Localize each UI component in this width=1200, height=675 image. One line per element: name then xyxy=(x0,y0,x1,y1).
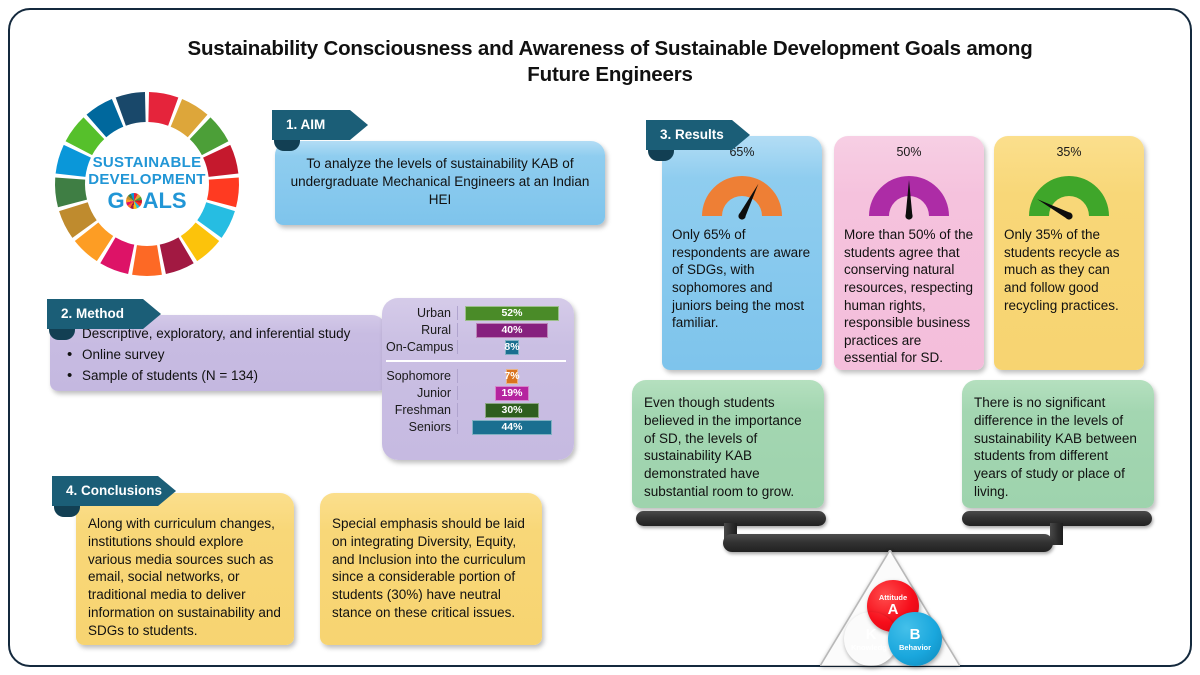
chart-bar-fill: 19% xyxy=(495,386,529,401)
chart-bar-fill: 7% xyxy=(506,369,519,384)
result-text: More than 50% of the students agree that… xyxy=(844,226,974,366)
chart-bar-row: Junior19% xyxy=(386,385,566,401)
chart-bar-fill: 40% xyxy=(476,323,548,338)
results-banner: 3. Results xyxy=(646,120,750,150)
chart-bar-label: Junior xyxy=(386,386,458,400)
method-bullet: Online survey xyxy=(60,346,372,364)
gauge-attitude: 50% xyxy=(844,144,974,224)
result-card-recycling: 35% Only 35% of the students recycle as … xyxy=(994,136,1144,370)
gauge-dial-icon xyxy=(1013,162,1125,220)
balance-right-card: There is no significant difference in th… xyxy=(962,380,1154,508)
demographics-funnel-chart: Urban52%Rural40%On-Campus8% Sophomore7%J… xyxy=(382,298,574,460)
sdg-tile-5 xyxy=(207,178,239,208)
balance-right-text: There is no significant difference in th… xyxy=(974,395,1137,499)
aim-text: To analyze the levels of sustainability … xyxy=(291,156,590,207)
balance-left-card: Even though students believed in the imp… xyxy=(632,380,824,508)
gauge-hub xyxy=(738,212,745,219)
kab-letter: B xyxy=(910,627,921,644)
page-title: Sustainability Consciousness and Awarene… xyxy=(170,36,1050,88)
gauge-hub xyxy=(1065,212,1072,219)
chart-bar-track: 30% xyxy=(458,403,566,418)
chart-group-divider xyxy=(386,360,566,362)
chart-bar-fill: 30% xyxy=(485,403,539,418)
conclusion-text: Special emphasis should be laid on integ… xyxy=(332,516,526,620)
conclusion-card-2: Special emphasis should be laid on integ… xyxy=(320,493,542,645)
conclusion-card-1: Along with curriculum changes, instituti… xyxy=(76,493,294,645)
chart-bar-label: Urban xyxy=(386,306,458,320)
kab-name: Behavior xyxy=(899,644,931,652)
result-card-attitude: 50% More than 50% of the students agree … xyxy=(834,136,984,370)
gauge-value-label: 35% xyxy=(1004,144,1134,161)
chart-group-year-of-study: Sophomore7%Junior19%Freshman30%Seniors44… xyxy=(386,368,566,435)
chart-bar-row: Urban52% xyxy=(386,305,566,321)
chart-bar-row: Seniors44% xyxy=(386,419,566,435)
sdg-tile-9 xyxy=(132,245,162,276)
gauge-value-label: 50% xyxy=(844,144,974,161)
sdg-wheel-logo: SUSTAINABLE DEVELOPMENT GALS xyxy=(52,90,242,278)
chart-bar-label: Rural xyxy=(386,323,458,337)
chart-group-place-of-living: Urban52%Rural40%On-Campus8% xyxy=(386,305,566,355)
gauge-awareness: 65% xyxy=(672,144,812,224)
chart-bar-row: Sophomore7% xyxy=(386,368,566,384)
kab-circle-behavior: B Behavior xyxy=(888,612,942,666)
gauge-dial-icon xyxy=(853,162,965,220)
chart-bar-label: On-Campus xyxy=(386,340,458,354)
aim-banner: 1. AIM xyxy=(272,110,368,140)
conclusions-banner: 4. Conclusions xyxy=(52,476,176,506)
chart-bar-fill: 44% xyxy=(472,420,551,435)
chart-bar-track: 8% xyxy=(458,340,566,355)
gauge-hub xyxy=(905,212,912,219)
chart-bar-row: Freshman30% xyxy=(386,402,566,418)
kab-name: Knowledge xyxy=(851,644,891,652)
gauge-arc xyxy=(1029,176,1109,216)
result-text: Only 35% of the students recycle as much… xyxy=(1004,226,1134,314)
sdg-wheel-svg xyxy=(52,90,242,278)
chart-bar-track: 7% xyxy=(458,369,566,384)
method-bullet-list: Descriptive, exploratory, and inferentia… xyxy=(60,325,372,384)
aim-card: To analyze the levels of sustainability … xyxy=(275,141,605,225)
kab-letter: A xyxy=(888,602,899,619)
chart-bar-label: Freshman xyxy=(386,403,458,417)
chart-bar-row: Rural40% xyxy=(386,322,566,338)
chart-bar-track: 40% xyxy=(458,323,566,338)
poster-canvas: Sustainability Consciousness and Awarene… xyxy=(8,8,1192,667)
chart-bar-track: 19% xyxy=(458,386,566,401)
method-banner: 2. Method xyxy=(47,299,161,329)
chart-bar-label: Seniors xyxy=(386,420,458,434)
sdg-tile-13 xyxy=(55,178,87,208)
balance-left-text: Even though students believed in the imp… xyxy=(644,395,802,499)
gauge-dial-icon xyxy=(686,162,798,220)
chart-bar-track: 52% xyxy=(458,306,566,321)
chart-bar-row: On-Campus8% xyxy=(386,339,566,355)
method-bullet: Sample of students (N = 134) xyxy=(60,367,372,385)
chart-bar-fill: 8% xyxy=(505,340,519,355)
chart-bar-fill: 52% xyxy=(465,306,559,321)
kab-letter: K xyxy=(866,627,877,644)
conclusion-text: Along with curriculum changes, instituti… xyxy=(88,516,281,638)
result-text: Only 65% of respondents are aware of SDG… xyxy=(672,226,812,331)
chart-bar-label: Sophomore xyxy=(386,369,458,383)
result-card-awareness: 65% Only 65% of respondents are aware of… xyxy=(662,136,822,370)
gauge-recycling: 35% xyxy=(1004,144,1134,224)
chart-bar-track: 44% xyxy=(458,420,566,435)
